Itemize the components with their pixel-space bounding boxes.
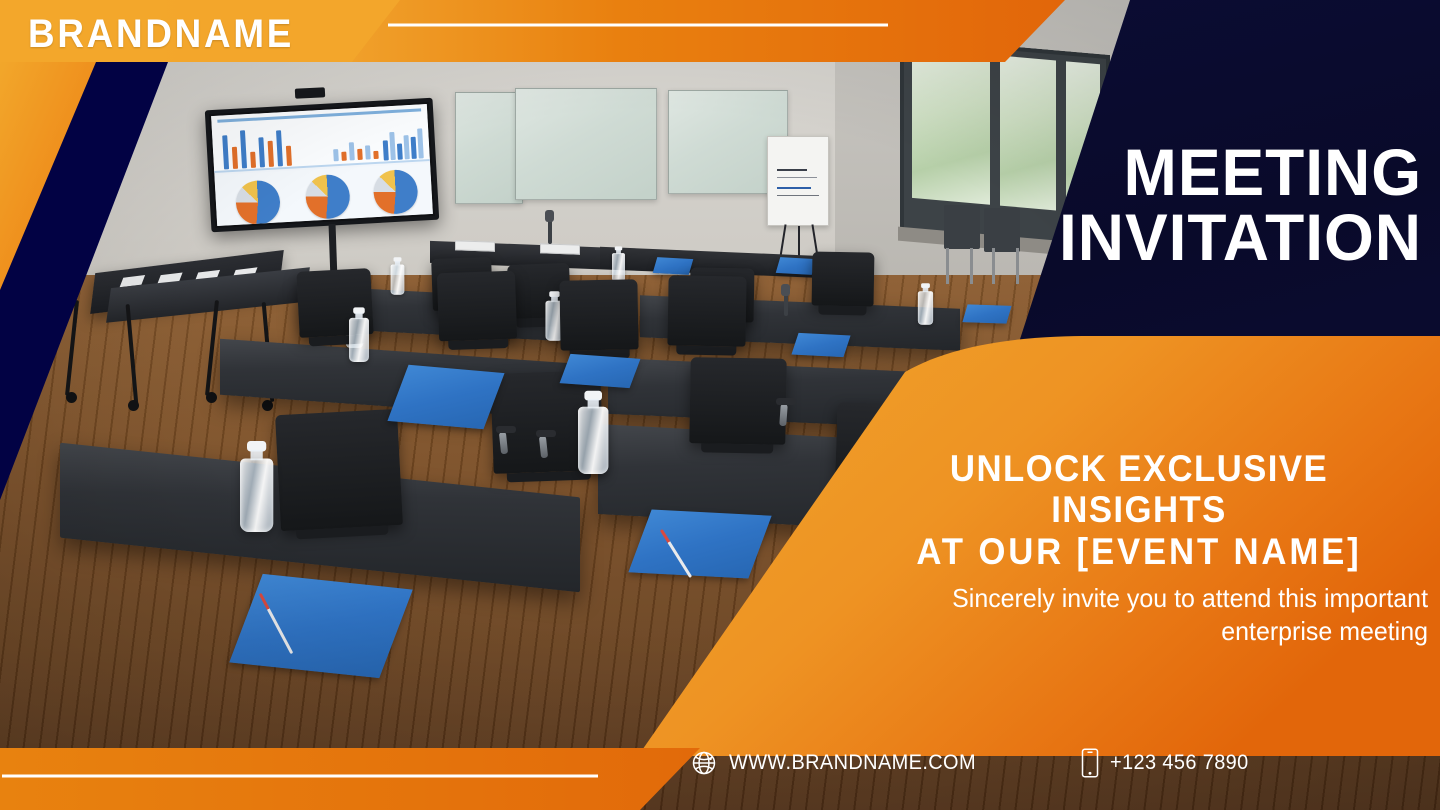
footer-left-bar (0, 748, 700, 810)
page-title: MEETING INVITATION (918, 140, 1422, 269)
phone-label: +123 456 7890 (1110, 751, 1249, 775)
subtext-line-1: Sincerely invite you to attend this impo… (816, 582, 1428, 615)
website-label: WWW.BRANDNAME.COM (729, 751, 976, 775)
headline: UNLOCK EXCLUSIVE INSIGHTS AT OUR [EVENT … (869, 448, 1409, 572)
subtext: Sincerely invite you to attend this impo… (816, 582, 1428, 647)
graphic-overlay (0, 0, 1440, 810)
brand-logo-text: BRANDNAME (28, 12, 294, 57)
footer-website[interactable]: WWW.BRANDNAME.COM (690, 749, 989, 777)
page-title-line-1: MEETING (918, 140, 1422, 205)
subtext-line-2: enterprise meeting (816, 615, 1428, 648)
globe-icon (690, 749, 718, 777)
meeting-invitation-poster: BRANDNAME MEETING INVITATION UNLOCK EXCL… (0, 0, 1440, 810)
page-title-line-2: INVITATION (918, 205, 1422, 270)
headline-line-2: AT OUR [EVENT NAME] (869, 531, 1409, 572)
headline-line-1: UNLOCK EXCLUSIVE INSIGHTS (869, 448, 1409, 531)
mobile-phone-icon (1081, 748, 1099, 778)
footer-phone[interactable]: +123 456 7890 (1081, 748, 1256, 778)
footer-contact-bar: WWW.BRANDNAME.COM +123 456 7890 (690, 748, 1330, 778)
